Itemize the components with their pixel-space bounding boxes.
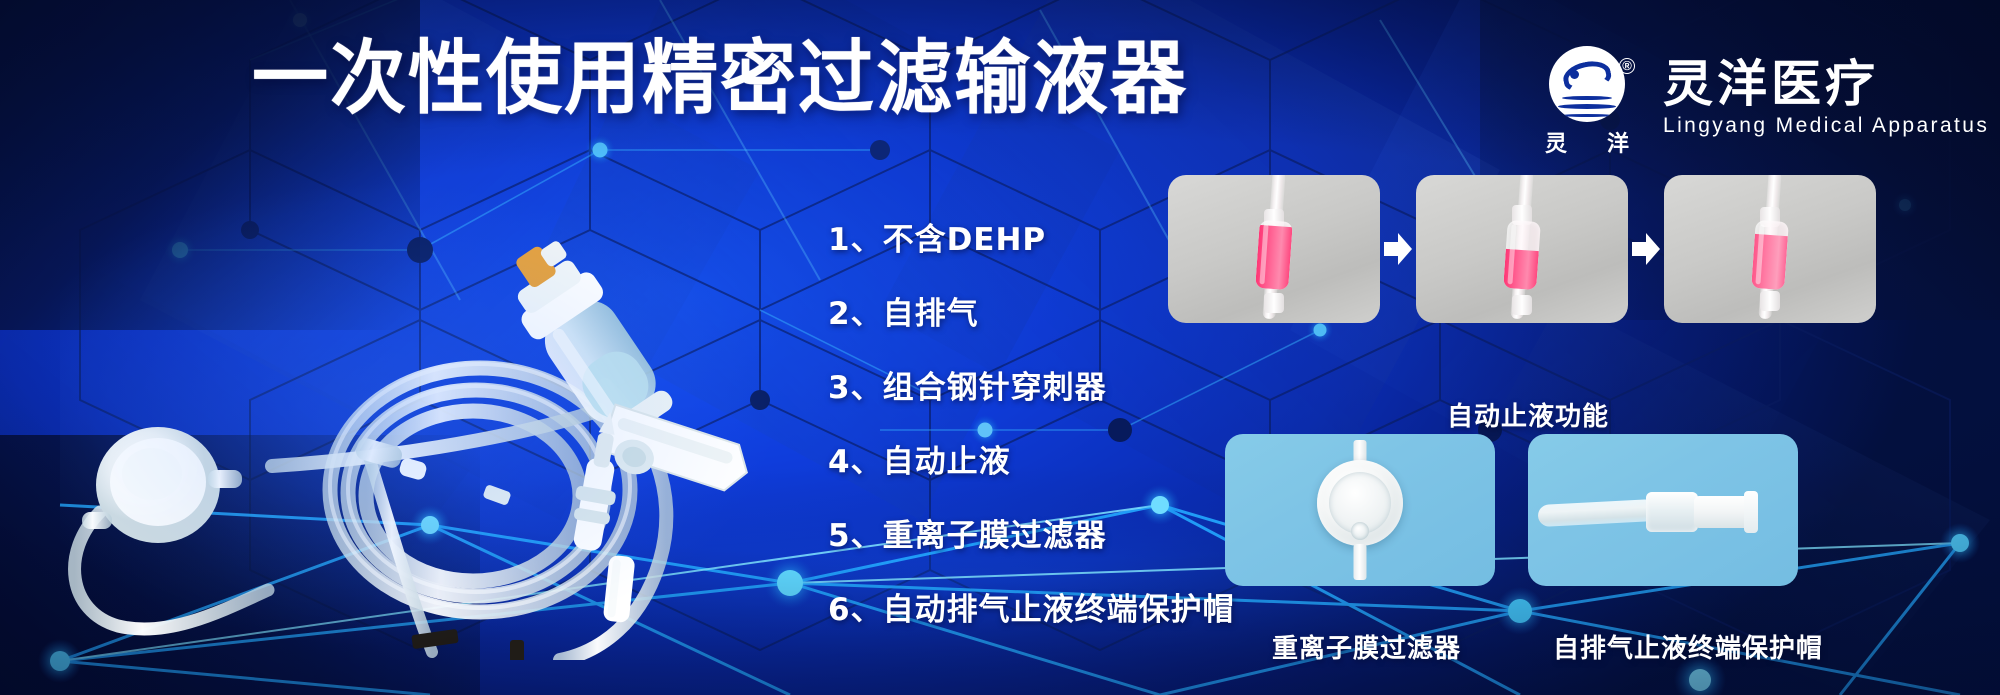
sequence-arrow-2-icon bbox=[1630, 231, 1662, 267]
page-title: 一次性使用精密过滤输液器 bbox=[252, 38, 1188, 119]
caption-auto-stop-function: 自动止液功能 bbox=[1447, 396, 1609, 433]
logo-circle-icon bbox=[1549, 46, 1625, 122]
feature-item-5: 5、重离子膜过滤器 bbox=[828, 510, 1235, 555]
logo-emblem-characters: 灵 洋 bbox=[1545, 126, 1629, 158]
banner-root: 一次性使用精密过滤输液器 ® 灵 洋 灵洋医疗 Lingyang Medical… bbox=[0, 0, 2000, 695]
feature-item-6: 6、自动排气止液终端保护帽 bbox=[828, 584, 1235, 629]
product-photo-glow bbox=[60, 180, 780, 650]
photo-auto-stop-frame-2 bbox=[1416, 175, 1628, 323]
photo-membrane-filter bbox=[1225, 434, 1495, 586]
frame-1-chamber bbox=[1255, 220, 1293, 290]
logo-char-right: 洋 bbox=[1607, 126, 1629, 158]
feature-item-4: 4、自动止液 bbox=[828, 436, 1235, 481]
photo-auto-stop-frame-3 bbox=[1664, 175, 1876, 323]
photo-end-cap bbox=[1528, 434, 1798, 586]
caption-membrane-filter: 重离子膜过滤器 bbox=[1272, 628, 1461, 665]
brand-name-cn: 灵洋医疗 bbox=[1663, 58, 1989, 110]
frame-2-chamber bbox=[1503, 220, 1541, 290]
sequence-arrow-1-icon bbox=[1382, 231, 1414, 267]
brand-name-en: Lingyang Medical Apparatus bbox=[1663, 114, 1989, 138]
logo-char-left: 灵 bbox=[1545, 126, 1567, 158]
end-cap-body bbox=[1694, 496, 1750, 528]
membrane-filter-port bbox=[1351, 522, 1369, 540]
end-cap-tip bbox=[1744, 491, 1758, 533]
end-cap-luer bbox=[1646, 492, 1698, 532]
feature-item-3: 3、组合钢针穿刺器 bbox=[828, 362, 1235, 407]
logo-wordmark: 灵洋医疗 Lingyang Medical Apparatus bbox=[1663, 58, 1989, 138]
logo-emblem: ® 灵 洋 bbox=[1545, 46, 1641, 150]
registered-trademark-icon: ® bbox=[1619, 58, 1635, 74]
photo-auto-stop-frame-1 bbox=[1168, 175, 1380, 323]
brand-logo[interactable]: ® 灵 洋 灵洋医疗 Lingyang Medical Apparatus bbox=[1545, 46, 1989, 150]
product-photo-infusion-set bbox=[40, 160, 800, 660]
caption-end-cap: 自排气止液终端保护帽 bbox=[1553, 628, 1823, 665]
frame-3-chamber bbox=[1751, 220, 1789, 290]
